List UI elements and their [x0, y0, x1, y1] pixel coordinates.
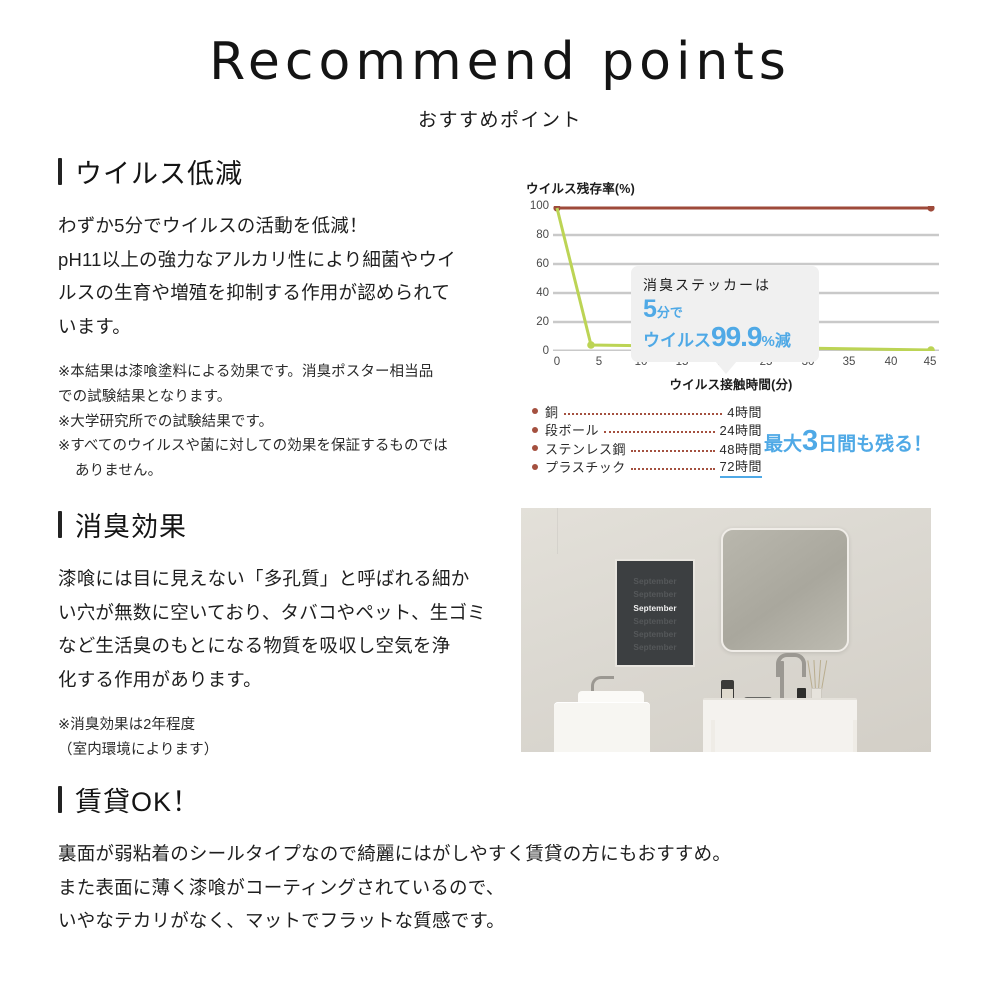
chart-x-axis-label: ウイルス接触時間(分)	[521, 374, 941, 393]
bullet-dot-icon	[532, 445, 538, 451]
section-rent-body: 裏面が弱粘着のシールタイプなので綺麗にはがしやすく賃貸の方にもおすすめ。 また表…	[58, 837, 938, 938]
heading-bar-icon	[58, 511, 62, 538]
chart-plot-area: 100 80 60 40 20 0	[521, 206, 941, 351]
section-virus-reduction: ウイルス低減 わずか5分でウイルスの活動を低減！ pH11以上の強力なアルカリ性…	[58, 152, 518, 484]
callout-percent-sign: %	[762, 333, 775, 350]
max-survival-number: 3	[802, 425, 818, 457]
callout-minutes-number: 5	[643, 295, 657, 323]
virus-body-line-2: pH11以上の強力なアルカリ性により細菌やウイ	[58, 243, 518, 277]
bullet-dot-icon	[532, 408, 538, 414]
photo-september-poster: September September September September …	[615, 559, 695, 667]
legend-row: 段ボール 24時間	[532, 421, 762, 440]
chart-xtick-40: 40	[885, 356, 898, 368]
chart-ytick-0: 0	[523, 345, 549, 357]
max-survival-prefix: 最大	[764, 434, 802, 455]
callout-virus-label: ウイルス	[643, 331, 711, 350]
section-odor-effect: 消臭効果 漆喰には目に見えない「多孔質」と呼ばれる細か い穴が無数に空いており、…	[58, 505, 518, 763]
chart-ytick-20: 20	[523, 316, 549, 328]
callout-line-2: 5分で	[643, 297, 809, 322]
poster-line: September	[617, 588, 693, 601]
recommend-points-page: Recommend points おすすめポイント ウイルス低減 わずか5分でウ…	[0, 0, 1000, 1000]
chart-callout-bubble: 消臭ステッカーは 5分で ウイルス99.9%減	[631, 266, 819, 362]
section-odor-notes: ※消臭効果は2年程度 （室内環境によります）	[58, 713, 518, 763]
photo-mirror	[721, 528, 849, 652]
callout-line-3: ウイルス99.9%減	[643, 323, 809, 351]
poster-line: September	[617, 628, 693, 641]
odor-body-line-4: 化する作用があります。	[58, 663, 518, 697]
chart-point-control-end	[927, 206, 934, 212]
virus-body-line-3: ルスの生育や増殖を抑制する作用が認められて	[58, 276, 518, 310]
chart-ytick-100: 100	[523, 200, 549, 212]
legend-material-name: プラスチック	[545, 457, 626, 476]
section-heading-rent-label: 賃貸OK！	[75, 780, 200, 819]
chart-y-axis-label: ウイルス残存率(%)	[526, 178, 635, 197]
chart-point-sticker-5min	[587, 341, 595, 349]
callout-minutes-unit: 分で	[657, 305, 683, 320]
virus-survival-chart: ウイルス残存率(%) 100 80 60 40 20 0	[521, 178, 941, 393]
poster-line: September	[617, 615, 693, 628]
photo-sink-faucet	[776, 653, 787, 699]
odor-note-1: ※消臭効果は2年程度	[58, 713, 518, 738]
odor-note-2: （室内環境によります）	[58, 738, 518, 763]
virus-note-1a: ※本結果は漆喰塗料による効果です。消臭ポスター相当品	[58, 360, 518, 385]
chart-ytick-40: 40	[523, 287, 549, 299]
heading-bar-icon	[58, 786, 62, 813]
callout-reduce-label: 減	[775, 333, 791, 350]
rent-body-line-1: 裏面が弱粘着のシールタイプなので綺麗にはがしやすく賃貸の方にもおすすめ。	[58, 837, 938, 871]
section-heading-odor-label: 消臭効果	[75, 505, 187, 544]
photo-toilet-tank	[554, 702, 650, 752]
photo-reed-diffuser-sticks	[810, 660, 824, 690]
odor-body-line-1: 漆喰には目に見えない「多孔質」と呼ばれる細か	[58, 562, 518, 596]
survival-duration-legend: 銅 4時間 段ボール 24時間 ステンレス鋼 48時間 プラスチック 72時間	[532, 402, 762, 476]
chart-xtick-45: 45	[924, 356, 937, 368]
virus-note-2: ※大学研究所での試験結果です。	[58, 410, 518, 435]
poster-line: September	[617, 641, 693, 654]
bullet-dot-icon	[532, 464, 538, 470]
poster-line-highlight: September	[617, 602, 693, 615]
legend-dot-leader	[631, 449, 715, 452]
page-subtitle: おすすめポイント	[0, 105, 1000, 132]
legend-dot-leader	[564, 412, 723, 415]
chart-xtick-5: 5	[596, 356, 602, 368]
max-survival-callout: 最大3日間も残る！	[764, 427, 932, 456]
callout-line-1: 消臭ステッカーは	[643, 275, 809, 295]
odor-body-line-3: など生活臭のもとになる物質を吸収し空気を浄	[58, 629, 518, 663]
legend-duration-value-highlight: 72時間	[720, 456, 762, 478]
heading-bar-icon	[58, 158, 62, 185]
legend-dot-leader	[631, 467, 715, 470]
max-survival-suffix: 日間も残る！	[818, 434, 932, 455]
virus-note-3a: ※すべてのウイルスや菌に対しての効果を保証するものでは	[58, 434, 518, 459]
page-title: Recommend points	[0, 34, 1000, 91]
section-virus-body: わずか5分でウイルスの活動を低減！ pH11以上の強力なアルカリ性により細菌やウ…	[58, 209, 518, 344]
photo-vanity-legs	[711, 720, 857, 752]
rent-body-line-3: いやなテカリがなく、マットでフラットな質感です。	[58, 904, 938, 938]
chart-xtick-35: 35	[843, 356, 856, 368]
bathroom-photo: September September September September …	[521, 508, 931, 752]
chart-ytick-80: 80	[523, 229, 549, 241]
rent-body-line-2: また表面に薄く漆喰がコーティングされているので、	[58, 871, 938, 905]
legend-row: ステンレス鋼 48時間	[532, 439, 762, 458]
legend-duration-value: 4時間	[727, 402, 762, 421]
legend-duration-value: 24時間	[720, 420, 762, 439]
section-heading-odor: 消臭効果	[58, 505, 518, 544]
virus-note-1b: での試験結果となります。	[58, 385, 518, 410]
legend-material-name: 銅	[545, 402, 559, 421]
section-heading-rent: 賃貸OK！	[58, 780, 938, 819]
photo-wall-seam	[557, 508, 558, 554]
callout-percent-number: 99.9	[711, 321, 762, 352]
section-virus-notes: ※本結果は漆喰塗料による効果です。消臭ポスター相当品 での試験結果となります。 …	[58, 360, 518, 485]
virus-note-3b: ありません。	[58, 459, 518, 484]
section-heading-virus: ウイルス低減	[58, 152, 518, 191]
section-odor-body: 漆喰には目に見えない「多孔質」と呼ばれる細か い穴が無数に空いており、タバコやペ…	[58, 562, 518, 697]
section-rental-ok: 賃貸OK！ 裏面が弱粘着のシールタイプなので綺麗にはがしやすく賃貸の方にもおすす…	[58, 780, 938, 938]
legend-material-name: 段ボール	[545, 420, 599, 439]
legend-row: プラスチック 72時間	[532, 458, 762, 477]
legend-dot-leader	[604, 430, 715, 433]
poster-line: September	[617, 575, 693, 588]
chart-point-sticker-end	[927, 346, 935, 351]
odor-body-line-2: い穴が無数に空いており、タバコやペット、生ゴミ	[58, 596, 518, 630]
page-header: Recommend points おすすめポイント	[0, 34, 1000, 132]
virus-body-line-1: わずか5分でウイルスの活動を低減！	[58, 209, 518, 243]
virus-body-line-4: います。	[58, 310, 518, 344]
legend-row: 銅 4時間	[532, 402, 762, 421]
chart-ytick-60: 60	[523, 258, 549, 270]
chart-xtick-0: 0	[554, 356, 560, 368]
section-heading-virus-label: ウイルス低減	[75, 152, 243, 191]
legend-material-name: ステンレス鋼	[545, 439, 626, 458]
bullet-dot-icon	[532, 427, 538, 433]
